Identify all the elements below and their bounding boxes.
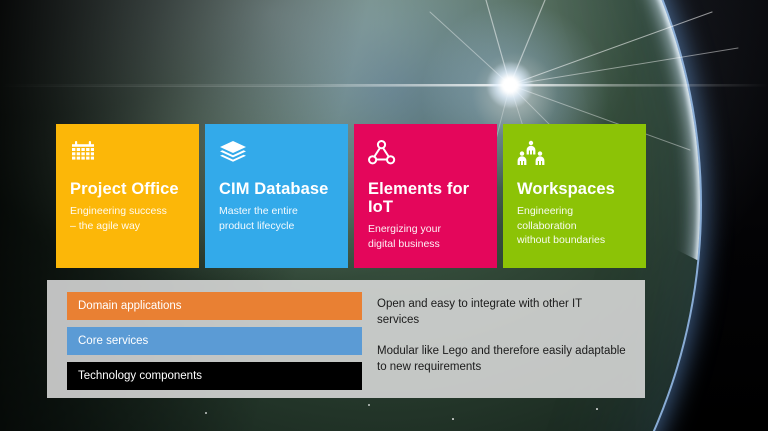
team-group-icon [517, 140, 632, 168]
card-subtitle-line1: Engineering success [70, 204, 185, 218]
star [596, 408, 598, 410]
card-subtitle-line1: Energizing your [368, 222, 483, 236]
product-card-elements-for-iot[interactable]: Elements for IoT Energizing your digital… [354, 124, 497, 268]
card-subtitle-line2: without boundaries [517, 233, 632, 247]
panel-note-2: Modular like Lego and therefore easily a… [377, 343, 627, 376]
product-card-workspaces[interactable]: Workspaces Engineering collaboration wit… [503, 124, 646, 268]
star [452, 418, 454, 420]
network-nodes-icon [368, 140, 483, 168]
card-title: CIM Database [219, 180, 334, 198]
stack-bar-label: Technology components [78, 370, 202, 382]
product-card-row: Project Office Engineering success – the… [56, 124, 646, 268]
card-title: Workspaces [517, 180, 632, 198]
stack-bar-label: Domain applications [78, 300, 182, 312]
product-card-cim-database[interactable]: CIM Database Master the entire product l… [205, 124, 348, 268]
stack-bar-core-services[interactable]: Core services [67, 327, 362, 355]
panel-note-1: Open and easy to integrate with other IT… [377, 296, 627, 329]
layers-icon [219, 140, 334, 168]
slide-canvas: Project Office Engineering success – the… [0, 0, 768, 431]
card-subtitle-line2: product lifecycle [219, 219, 334, 233]
sun-flare-core [487, 62, 533, 108]
panel-notes: Open and easy to integrate with other IT… [377, 296, 627, 375]
star [205, 412, 207, 414]
stack-bar-technology-components[interactable]: Technology components [67, 362, 362, 390]
stack-bar-label: Core services [78, 335, 148, 347]
sun-flare-horizontal-streak-2 [0, 86, 768, 87]
card-subtitle-line1: Engineering collaboration [517, 204, 632, 233]
architecture-panel: Domain applications Core services Techno… [47, 280, 645, 398]
star [368, 404, 370, 406]
calendar-icon [70, 140, 185, 168]
card-title: Elements for IoT [368, 180, 483, 216]
card-title: Project Office [70, 180, 185, 198]
card-subtitle-line2: digital business [368, 237, 483, 251]
stack-bar-domain-applications[interactable]: Domain applications [67, 292, 362, 320]
card-subtitle-line1: Master the entire [219, 204, 334, 218]
architecture-stack: Domain applications Core services Techno… [67, 292, 362, 390]
product-card-project-office[interactable]: Project Office Engineering success – the… [56, 124, 199, 268]
card-subtitle-line2: – the agile way [70, 219, 185, 233]
